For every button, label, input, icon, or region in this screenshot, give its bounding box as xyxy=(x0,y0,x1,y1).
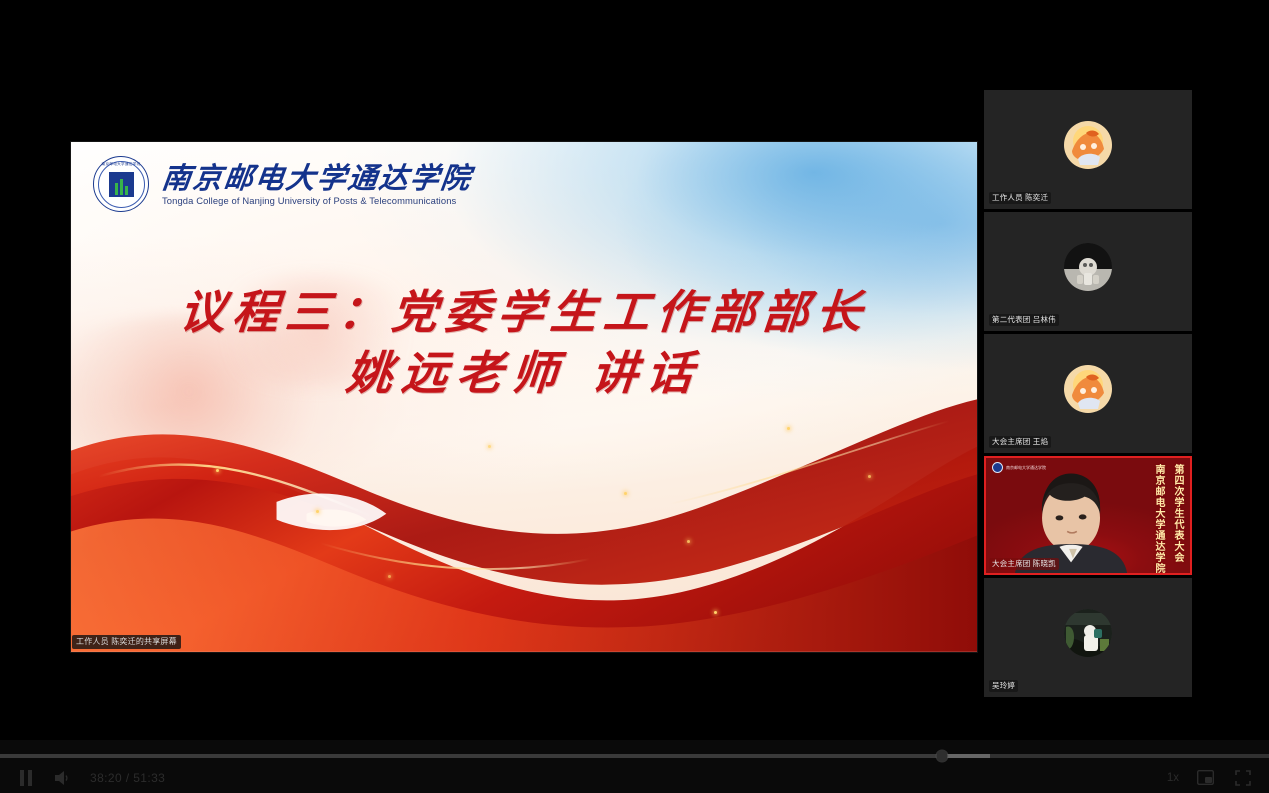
video-player: 南京邮电大学通达学院 南京邮电大学通达学院 Tongda College of … xyxy=(0,0,1269,793)
picture-in-picture-icon[interactable] xyxy=(1193,766,1217,790)
school-name-block: 南京邮电大学通达学院 Tongda College of Nanjing Uni… xyxy=(162,162,472,206)
presentation-slide: 南京邮电大学通达学院 南京邮电大学通达学院 Tongda College of … xyxy=(71,142,977,652)
participant-tile-0[interactable]: 工作人员 陈奕迁 xyxy=(984,90,1192,209)
logo-arc-text-top: 南京邮电大学通达学院 xyxy=(94,162,148,167)
sparkle-dot xyxy=(624,492,627,495)
sparkle-dot xyxy=(787,427,790,430)
participant-name: 工作人员 陈奕迁 xyxy=(989,192,1051,205)
volume-icon[interactable] xyxy=(52,766,76,790)
sparkle-dot xyxy=(216,469,219,472)
participant-name: 大会主席团 陈晓凯 xyxy=(989,558,1059,571)
avatar xyxy=(1064,365,1112,413)
pause-button[interactable] xyxy=(14,766,38,790)
playback-speed-button[interactable]: 1x xyxy=(1167,772,1179,784)
logo-tower-glyph xyxy=(109,172,134,197)
school-name-en: Tongda College of Nanjing University of … xyxy=(162,195,472,206)
school-name-cn: 南京邮电大学通达学院 xyxy=(160,162,474,194)
participant-tile-2[interactable]: 大会主席团 王焰 xyxy=(984,334,1192,453)
university-logo-icon: 南京邮电大学通达学院 xyxy=(93,156,149,212)
sparkle-dot xyxy=(316,510,319,513)
shared-screen-area[interactable]: 南京邮电大学通达学院 南京邮电大学通达学院 Tongda College of … xyxy=(70,141,978,653)
seek-bar[interactable] xyxy=(0,754,1269,758)
sparkle-dot xyxy=(687,540,690,543)
avatar xyxy=(1064,243,1112,291)
sparkle-dot xyxy=(488,445,491,448)
participant-filmstrip[interactable]: 工作人员 陈奕迁 第二代表团 吕林伟 xyxy=(984,90,1192,697)
slide-title-line-1: 议程三：党委学生工作部部长 xyxy=(71,282,977,343)
played-range xyxy=(0,754,942,758)
fullscreen-icon[interactable] xyxy=(1231,766,1255,790)
participant-tile-1[interactable]: 第二代表团 吕林伟 xyxy=(984,212,1192,331)
avatar xyxy=(1064,609,1112,657)
speaker-video-feed: 南京邮电大学通达学院 南京邮电大学通达学院 第四次学生代表大会 xyxy=(986,458,1190,573)
sparkle-dot xyxy=(868,475,871,478)
slide-title: 议程三：党委学生工作部部长 姚远老师 讲话 xyxy=(71,282,977,403)
avatar xyxy=(1064,121,1112,169)
participant-tile-4[interactable]: 吴玲婷 xyxy=(984,578,1192,697)
shared-screen-label: 工作人员 陈奕迁的共享屏幕 xyxy=(72,635,181,649)
video-stage[interactable]: 南京邮电大学通达学院 南京邮电大学通达学院 Tongda College of … xyxy=(0,0,1269,740)
participant-name: 大会主席团 王焰 xyxy=(989,436,1051,449)
time-display: 38:20 / 51:33 xyxy=(90,771,165,785)
slide-branding-header: 南京邮电大学通达学院 南京邮电大学通达学院 Tongda College of … xyxy=(93,156,472,212)
slide-title-line-2: 姚远老师 讲话 xyxy=(71,343,977,404)
seek-handle[interactable] xyxy=(936,751,947,762)
sparkle-dot xyxy=(714,611,717,614)
participant-tile-3-active-speaker[interactable]: 南京邮电大学通达学院 南京邮电大学通达学院 第四次学生代表大会 xyxy=(984,456,1192,575)
participant-name: 第二代表团 吕林伟 xyxy=(989,314,1059,327)
speaker-person-silhouette xyxy=(986,458,1187,573)
participant-name: 吴玲婷 xyxy=(989,680,1018,693)
player-control-bar[interactable]: 38:20 / 51:33 1x xyxy=(0,740,1269,793)
